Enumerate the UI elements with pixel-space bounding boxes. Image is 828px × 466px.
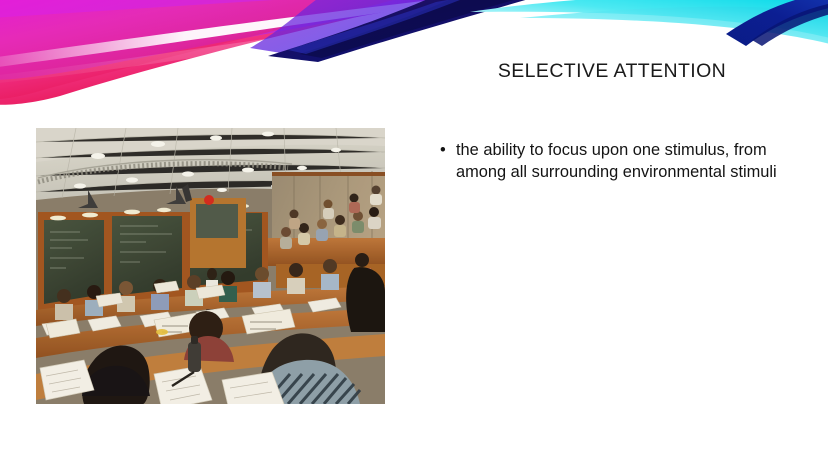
bullet-list: • the ability to focus upon one stimulus… [438,140,798,183]
content-body: • the ability to focus upon one stimulus… [438,140,798,183]
bullet-text: the ability to focus upon one stimulus, … [456,141,777,181]
page-title: SELECTIVE ATTENTION [436,60,788,83]
list-item: • the ability to focus upon one stimulus… [438,140,798,183]
lecture-hall-photo [36,128,385,404]
bullet-marker: • [440,140,446,162]
decorative-wave-banner [0,0,828,110]
slide: SELECTIVE ATTENTION [0,0,828,466]
